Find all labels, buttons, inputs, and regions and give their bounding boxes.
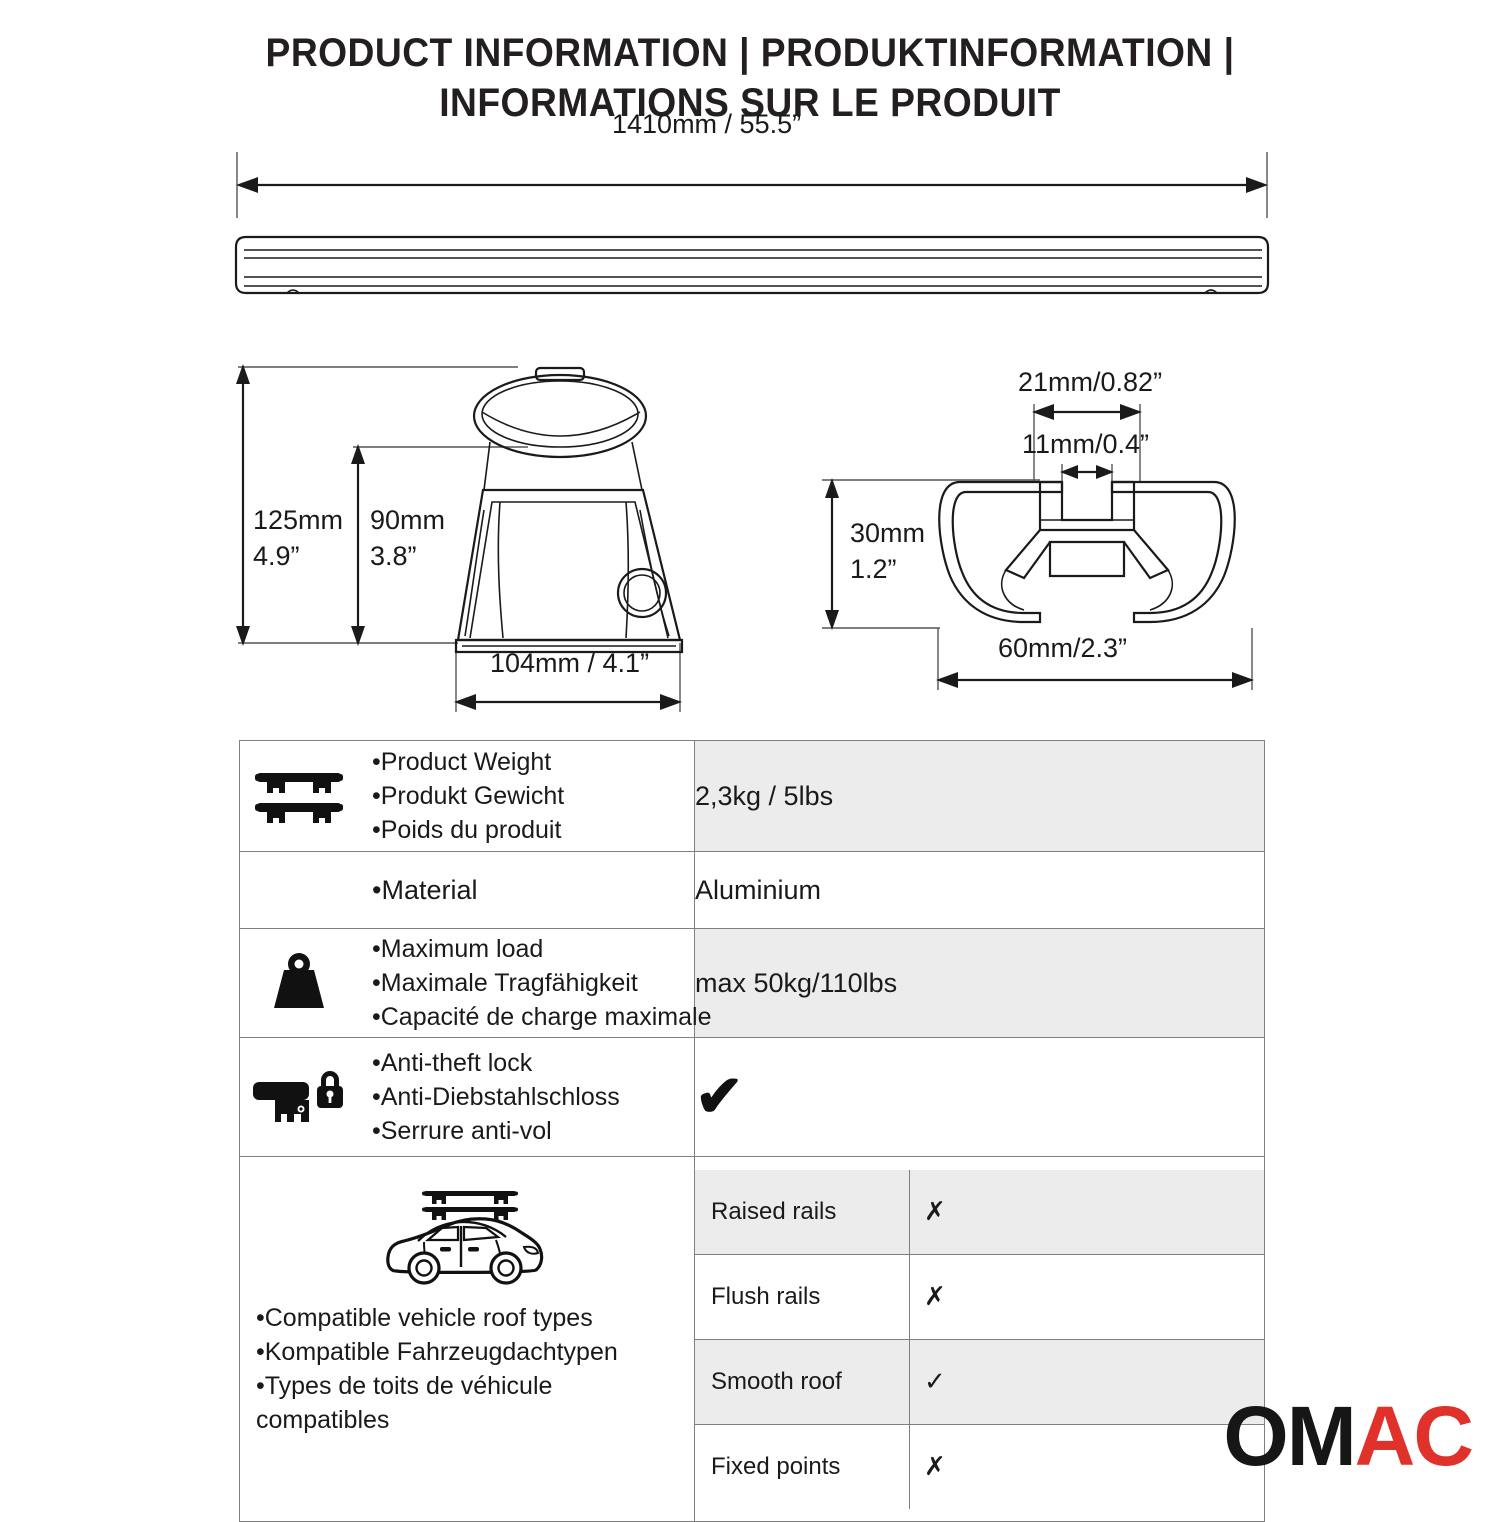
- omac-logo: OMAC: [1223, 1394, 1472, 1478]
- logo-text-red: AC: [1355, 1389, 1472, 1483]
- bullet-line: •Maximum load: [372, 932, 711, 966]
- table-row: •Material Aluminium: [240, 852, 1265, 929]
- profile-slot-outer-label: 21mm/0.82”: [1018, 364, 1162, 400]
- logo-text-dark: OM: [1223, 1389, 1354, 1483]
- foot-width-label: 104mm / 4.1”: [490, 645, 649, 681]
- bullet-line: •Product Weight: [372, 745, 564, 779]
- lock-icon: [240, 1066, 358, 1128]
- foot-dimension-drawing: 125mm 4.9” 90mm 3.8” 104mm / 4.1”: [228, 350, 728, 720]
- compat-row-smooth-roof: Smooth roof ✓: [695, 1339, 1264, 1424]
- foot-height-total-label: 125mm 4.9”: [253, 502, 343, 574]
- bullet-line: •Compatible vehicle roof types: [256, 1301, 618, 1335]
- profile-slot-inner-label: 11mm/0.4”: [1022, 426, 1149, 462]
- bullet-line: •Poids du produit: [372, 813, 564, 847]
- bullet-line: •Serrure anti-vol: [372, 1114, 620, 1148]
- bullet-line: •Anti-theft lock: [372, 1046, 620, 1080]
- car-with-rack-icon: [240, 1185, 694, 1287]
- crossbars-icon: [240, 765, 358, 827]
- bullet-line: •Maximale Tragfähigkeit: [372, 966, 711, 1000]
- compat-mark: ✗: [910, 1254, 1265, 1339]
- profile-width-label: 60mm/2.3”: [998, 630, 1127, 666]
- bullet-line: •Material: [372, 873, 477, 907]
- compat-label: Fixed points: [695, 1424, 910, 1509]
- compatibility-table: Raised rails ✗ Flush rails ✗ Smooth roof…: [695, 1170, 1264, 1509]
- profile-cross-section-drawing: 21mm/0.82” 11mm/0.4” 30mm 1.2” 60mm/2.3”: [810, 360, 1290, 700]
- compat-mark: ✗: [910, 1170, 1265, 1255]
- profile-height-label: 30mm 1.2”: [850, 515, 925, 587]
- table-row: •Product Weight •Produkt Gewicht •Poids …: [240, 741, 1265, 852]
- foot-height-inner-label: 90mm 3.8”: [370, 502, 445, 574]
- title-line-1: PRODUCT INFORMATION | PRODUKTINFORMATION…: [53, 28, 1448, 78]
- spec-value-weight: 2,3kg / 5lbs: [695, 741, 1265, 852]
- compat-label: Raised rails: [695, 1170, 910, 1255]
- compat-mark: ✓: [910, 1339, 1265, 1424]
- spec-value-max-load: max 50kg/110lbs: [695, 929, 1265, 1038]
- spec-value-material: Aluminium: [695, 852, 1265, 929]
- compat-row-raised-rails: Raised rails ✗: [695, 1170, 1264, 1255]
- table-row: •Maximum load •Maximale Tragfähigkeit •C…: [240, 929, 1265, 1038]
- bullet-line: •Types de toits de véhicule: [256, 1369, 618, 1403]
- bar-length-label: 1410mm / 55.5”: [612, 106, 801, 142]
- table-row: •Anti-theft lock •Anti-Diebstahlschloss …: [240, 1038, 1265, 1157]
- bullet-line: •Anti-Diebstahlschloss: [372, 1080, 620, 1114]
- bullet-line: •Kompatible Fahrzeugdachtypen: [256, 1335, 618, 1369]
- table-row: •Compatible vehicle roof types •Kompatib…: [240, 1157, 1265, 1522]
- compat-label: Flush rails: [695, 1254, 910, 1339]
- product-spec-table: •Product Weight •Produkt Gewicht •Poids …: [239, 740, 1265, 1522]
- compat-mark: ✗: [910, 1424, 1265, 1509]
- anti-theft-check-mark: ✔: [695, 1064, 744, 1129]
- crossbar-length-drawing: 1410mm / 55.5”: [232, 140, 1272, 320]
- compat-label: Smooth roof: [695, 1339, 910, 1424]
- weight-icon: [240, 952, 358, 1014]
- bullet-line: •Produkt Gewicht: [372, 779, 564, 813]
- bullet-line: compatibles: [256, 1403, 618, 1437]
- compat-row-fixed-points: Fixed points ✗: [695, 1424, 1264, 1509]
- compatibility-subtable-cell: Raised rails ✗ Flush rails ✗ Smooth roof…: [695, 1157, 1265, 1522]
- bullet-line: •Capacité de charge maximale: [372, 1000, 711, 1034]
- compat-row-flush-rails: Flush rails ✗: [695, 1254, 1264, 1339]
